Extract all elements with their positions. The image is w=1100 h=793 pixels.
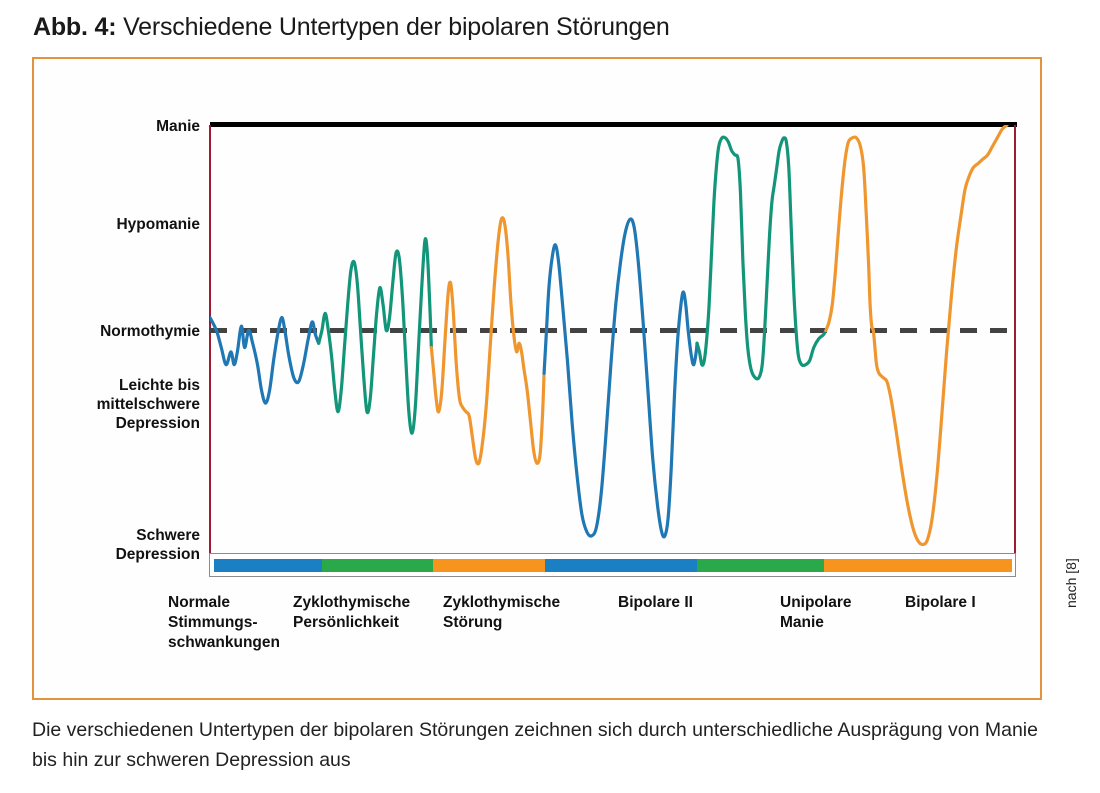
- mood-curve-plot: [210, 125, 1015, 553]
- mood-curve-series: [544, 219, 697, 537]
- x-axis-label: Zyklothymische Störung: [443, 593, 560, 633]
- mood-curve-series: [431, 218, 544, 464]
- mood-curve-series: [826, 125, 1007, 544]
- y-axis-label: Leichte bis mittelschwere Depression: [32, 376, 200, 433]
- figure-page: Abb. 4: Verschiedene Untertypen der bipo…: [0, 0, 1100, 793]
- mood-curve-series: [697, 137, 826, 379]
- figure-number: Abb. 4:: [33, 13, 116, 41]
- figure-caption: Die verschiedenen Untertypen der bipolar…: [32, 715, 1052, 775]
- x-axis-label-group: Normale Stimmungs- schwankungenZyklothym…: [160, 593, 1040, 683]
- y-axis-label: Manie: [32, 117, 200, 136]
- x-axis-label: Bipolare II: [618, 593, 693, 613]
- subtype-color-band-segments: [214, 559, 1012, 572]
- y-axis-label: Normothymie: [32, 322, 200, 341]
- x-axis-label: Bipolare I: [905, 593, 976, 613]
- figure-title: Abb. 4: Verschiedene Untertypen der bipo…: [33, 12, 670, 42]
- mood-curve-svg: [210, 125, 1015, 553]
- band-segment: [322, 559, 434, 572]
- band-segment: [824, 559, 1012, 572]
- source-note: nach [8]: [1063, 558, 1079, 608]
- y-axis-label: Hypomanie: [32, 215, 200, 234]
- mood-curve-series: [319, 239, 432, 434]
- band-segment: [214, 559, 322, 572]
- subtype-color-band: [209, 553, 1016, 577]
- x-axis-label: Zyklothymische Persönlichkeit: [293, 593, 410, 633]
- band-segment: [545, 559, 697, 572]
- x-axis-label: Normale Stimmungs- schwankungen: [168, 593, 280, 653]
- band-segment: [433, 559, 545, 572]
- x-axis-label: Unipolare Manie: [780, 593, 851, 633]
- y-axis-label: Schwere Depression: [32, 526, 200, 564]
- figure-title-text: Verschiedene Untertypen der bipolaren St…: [116, 13, 669, 41]
- band-segment: [697, 559, 825, 572]
